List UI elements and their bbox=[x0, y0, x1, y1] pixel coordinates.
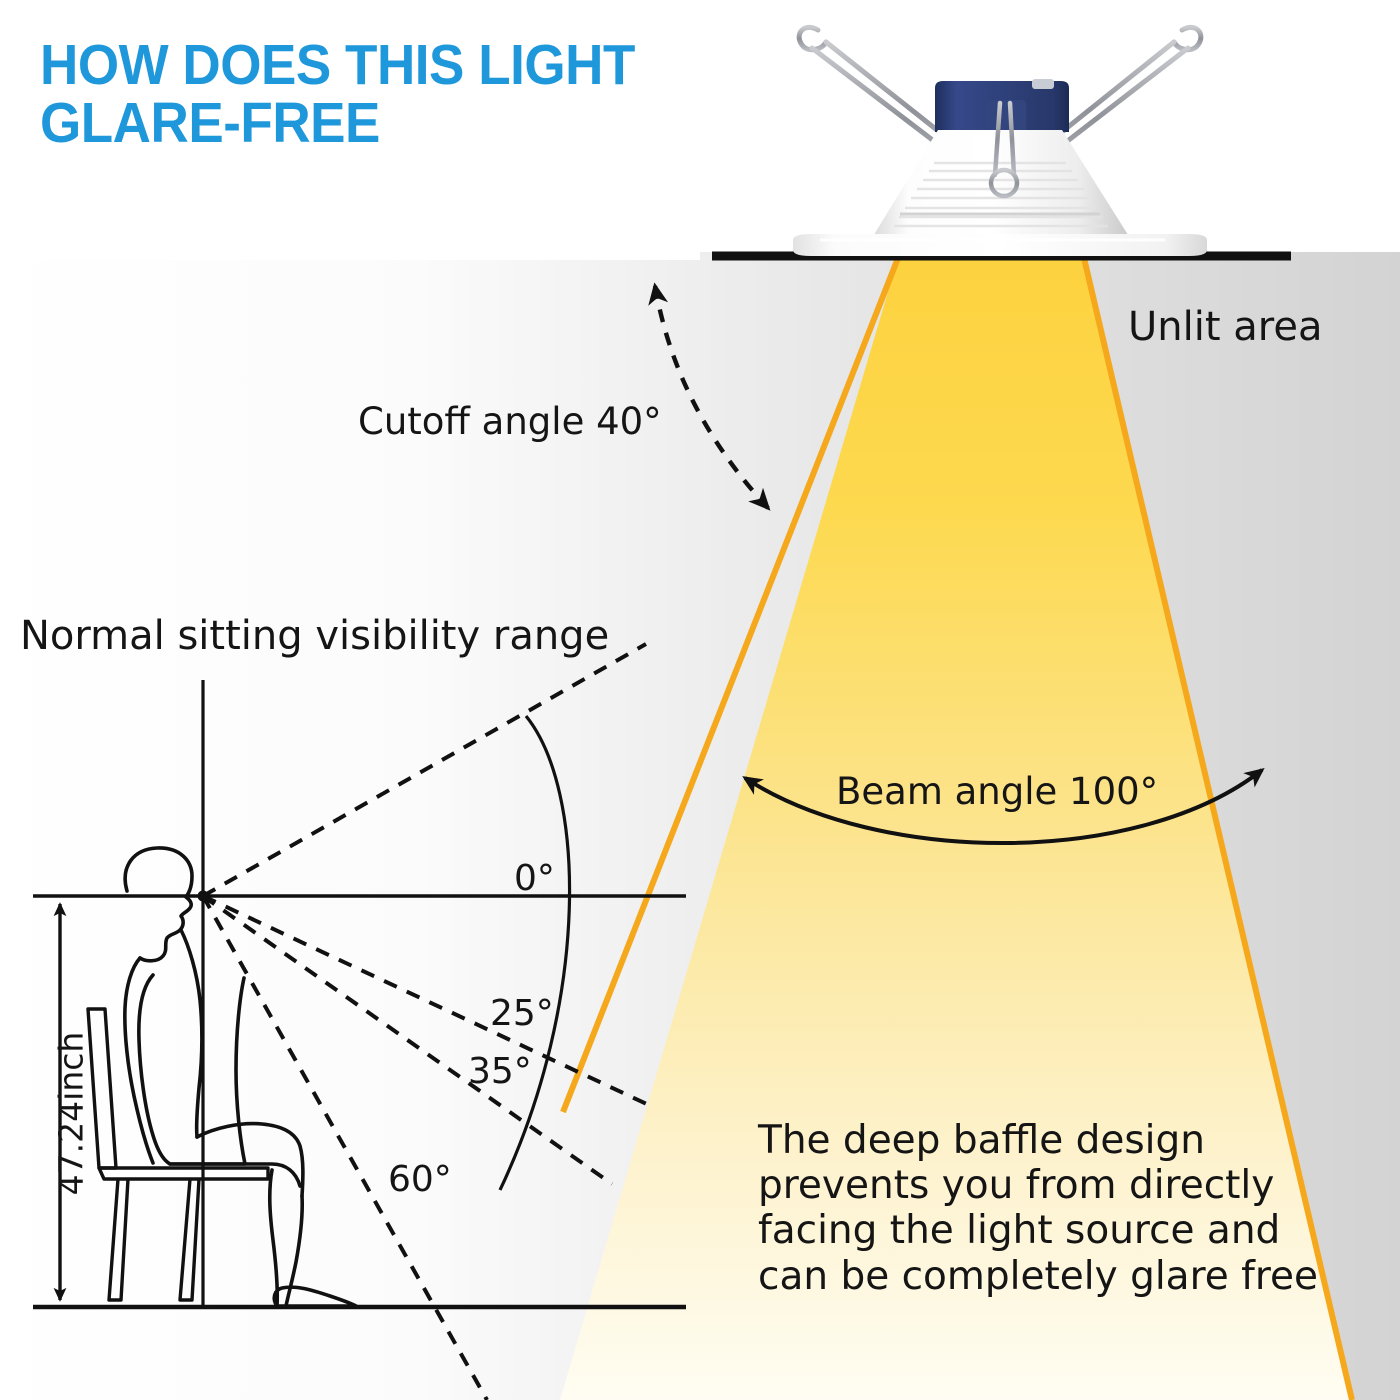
label-normal-sitting-range: Normal sitting visibility range bbox=[20, 613, 609, 659]
label-unlit-area: Unlit area bbox=[1128, 304, 1322, 350]
label-seat-height: 47.24inch bbox=[52, 999, 91, 1229]
trim-flange bbox=[793, 234, 1207, 256]
label-angle-60: 60° bbox=[388, 1159, 452, 1200]
label-beam-angle: Beam angle 100° bbox=[836, 770, 1158, 813]
label-angle-35: 35° bbox=[468, 1051, 532, 1092]
infographic-canvas: HOW DOES THIS LIGHT GLARE-FREE Unlit are… bbox=[0, 0, 1400, 1400]
housing-nub bbox=[1032, 79, 1054, 89]
label-angle-25: 25° bbox=[490, 993, 554, 1034]
label-angle-0: 0° bbox=[514, 858, 555, 899]
housing-tab bbox=[986, 100, 1026, 134]
label-cutoff-angle: Cutoff angle 40° bbox=[358, 400, 662, 443]
label-description: The deep baffle design prevents you from… bbox=[758, 1118, 1338, 1299]
page-title: HOW DOES THIS LIGHT GLARE-FREE bbox=[40, 36, 747, 152]
eye-pivot-point bbox=[198, 891, 209, 902]
